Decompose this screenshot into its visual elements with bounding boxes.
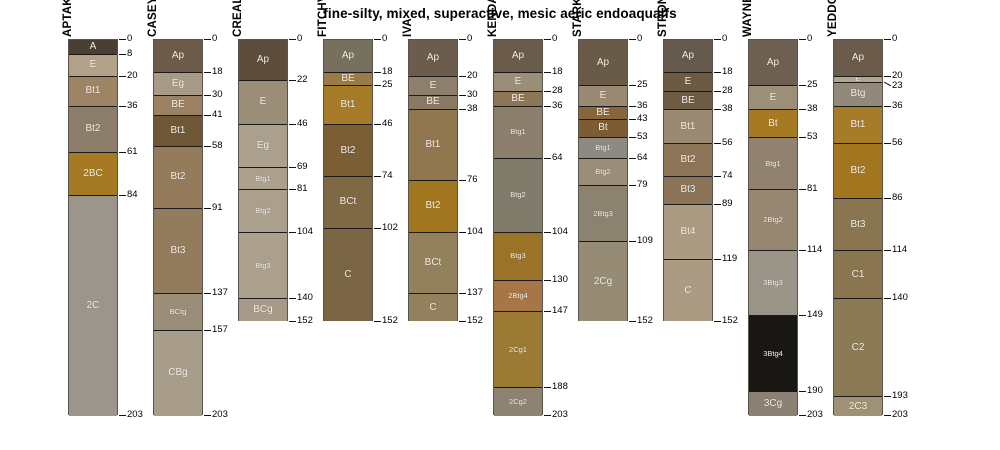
horizon-label: Bt2 xyxy=(680,155,695,165)
axis-tick-label: 41 xyxy=(212,110,223,120)
horizon-label: Eg xyxy=(257,141,269,151)
axis-tick-label: 28 xyxy=(722,86,733,96)
horizon-bctg[interactable]: BCtg xyxy=(154,294,202,331)
horizon-label: Bt1 xyxy=(85,86,100,96)
horizon-eg[interactable]: Eg xyxy=(154,73,202,95)
axis-tick-label: 152 xyxy=(382,316,398,326)
profile-name-label: YEDDO xyxy=(827,0,839,37)
horizon-cbg[interactable]: CBg xyxy=(154,331,202,416)
axis-tick xyxy=(799,137,806,138)
horizon-label: 2Cg xyxy=(594,277,612,287)
horizon-2cg1[interactable]: 2Cg1 xyxy=(494,312,542,388)
axis-tick xyxy=(544,415,551,416)
axis-tick xyxy=(714,176,721,177)
profile-column: ApEBEBtg1Btg2Btg32Btg42Cg12Cg2 xyxy=(493,39,543,415)
horizon-2bc[interactable]: 2BC xyxy=(69,153,117,196)
axis-tick-label: 43 xyxy=(637,114,648,124)
axis-tick-label: 18 xyxy=(552,67,563,77)
horizon-label: Bt2 xyxy=(850,166,865,176)
axis-tick xyxy=(544,232,551,233)
profile-name-label: STRONGHURST xyxy=(657,0,669,37)
horizon-bt2[interactable]: Bt2 xyxy=(324,125,372,177)
axis-tick xyxy=(799,189,806,190)
profile-column: ApEBEBt1Bt2Bt3Bt4C xyxy=(663,39,713,321)
horizon-label: C xyxy=(344,270,351,280)
axis-tick-label: 18 xyxy=(722,67,733,77)
axis-tick xyxy=(289,39,296,40)
horizon-label: Ap xyxy=(852,53,864,63)
axis-tick-label: 74 xyxy=(382,171,393,181)
horizon-bt1[interactable]: Bt1 xyxy=(664,110,712,143)
profile-column: ApEgBEBt1Bt2Bt3BCtgCBg xyxy=(153,39,203,415)
horizon-c2[interactable]: C2 xyxy=(834,299,882,397)
horizon-label: BCt xyxy=(340,197,357,207)
horizon-label: Bt3 xyxy=(680,185,695,195)
horizon-btg1[interactable]: Btg1 xyxy=(749,138,797,190)
horizon-label: BE xyxy=(341,74,354,84)
horizon-2c3[interactable]: 2C3 xyxy=(834,397,882,416)
horizon-ap[interactable]: Ap xyxy=(239,40,287,81)
axis-tick xyxy=(714,204,721,205)
axis-tick-label: 0 xyxy=(807,34,812,44)
horizon-label: C2 xyxy=(852,343,865,353)
profile-column: ApEBtgBt1Bt2Bt3C1C22C3 xyxy=(833,39,883,415)
horizon-e[interactable]: E xyxy=(579,86,627,106)
profile-name-label: WAYNETOWN xyxy=(742,0,754,37)
axis-tick xyxy=(629,85,636,86)
horizon-e[interactable]: E xyxy=(69,55,117,77)
horizon-label: E xyxy=(260,97,267,107)
axis-tick xyxy=(374,124,381,125)
horizon-label: E xyxy=(430,81,437,91)
horizon-label: BE xyxy=(681,96,694,106)
axis-tick xyxy=(204,146,211,147)
horizon-ap[interactable]: Ap xyxy=(324,40,372,73)
axis-tick xyxy=(204,115,211,116)
axis-tick-label: 0 xyxy=(127,34,132,44)
horizon-be[interactable]: BE xyxy=(579,107,627,120)
axis-tick-label: 69 xyxy=(297,162,308,172)
horizon-bt1[interactable]: Bt1 xyxy=(834,107,882,144)
horizon-label: 2Btg2 xyxy=(763,216,783,224)
horizon-3btg3[interactable]: 3Btg3 xyxy=(749,251,797,316)
axis-tick xyxy=(629,119,636,120)
profile-column: ApEEgBtg1Btg2Btg3BCg xyxy=(238,39,288,321)
axis-tick-label: 23 xyxy=(892,81,903,91)
horizon-label: 2Cg2 xyxy=(509,398,527,406)
axis-tick-label: 152 xyxy=(297,316,313,326)
axis-tick-label: 38 xyxy=(722,104,733,114)
horizon-bt2[interactable]: Bt2 xyxy=(664,144,712,177)
horizon-a[interactable]: A xyxy=(69,40,117,55)
axis-tick xyxy=(799,85,806,86)
soil-profile-figure: fine-silty, mixed, superactive, mesic ae… xyxy=(0,0,1000,450)
axis-tick-label: 0 xyxy=(892,34,897,44)
axis-tick xyxy=(374,85,381,86)
horizon-label: Ap xyxy=(427,53,439,63)
axis-tick xyxy=(544,311,551,312)
horizon-bt2[interactable]: Bt2 xyxy=(69,107,117,153)
axis-tick-label: 18 xyxy=(382,67,393,77)
axis-tick xyxy=(204,95,211,96)
horizon-label: Btg xyxy=(850,89,865,99)
axis-tick-label: 64 xyxy=(552,153,563,163)
axis-tick-label: 130 xyxy=(552,275,568,285)
horizon-ap[interactable]: Ap xyxy=(409,40,457,77)
axis-tick-label: 36 xyxy=(552,101,563,111)
axis-tick xyxy=(374,321,381,322)
axis-tick-label: 74 xyxy=(722,171,733,181)
horizon-label: E xyxy=(600,91,607,101)
horizon-e[interactable]: E xyxy=(409,77,457,96)
axis-tick xyxy=(459,321,466,322)
horizon-be[interactable]: BE xyxy=(409,96,457,111)
axis-tick-label: 203 xyxy=(212,410,228,420)
profile-column: ApEBtBtg12Btg23Btg33Btg43Cg xyxy=(748,39,798,415)
axis-tick xyxy=(884,39,891,40)
axis-tick xyxy=(459,232,466,233)
axis-tick-label: 114 xyxy=(807,245,822,255)
axis-tick xyxy=(289,321,296,322)
axis-tick xyxy=(374,72,381,73)
axis-tick xyxy=(884,298,891,299)
axis-tick xyxy=(459,293,466,294)
axis-tick xyxy=(714,39,721,40)
horizon-label: Btg1 xyxy=(765,160,780,168)
horizon-btg1[interactable]: Btg1 xyxy=(579,138,627,158)
axis-tick-label: 104 xyxy=(552,227,568,237)
horizon-bt[interactable]: Bt xyxy=(749,110,797,138)
axis-tick-label: 30 xyxy=(467,90,478,100)
horizon-label: Ap xyxy=(512,51,524,61)
axis-tick-label: 91 xyxy=(212,203,223,213)
horizon-btg1[interactable]: Btg1 xyxy=(239,168,287,190)
axis-tick xyxy=(714,72,721,73)
axis-tick xyxy=(629,158,636,159)
axis-tick xyxy=(629,39,636,40)
horizon-label: 2BC xyxy=(83,169,102,179)
horizon-label: 3Btg3 xyxy=(763,279,783,287)
axis-tick xyxy=(119,195,126,196)
horizon-label: Bt2 xyxy=(340,146,355,156)
horizon-bcg[interactable]: BCg xyxy=(239,299,287,321)
axis-tick xyxy=(204,208,211,209)
horizon-label: Bt3 xyxy=(170,246,185,256)
horizon-label: Bt2 xyxy=(425,201,440,211)
horizon-ap[interactable]: Ap xyxy=(154,40,202,73)
axis-tick xyxy=(884,198,891,199)
axis-tick xyxy=(714,259,721,260)
axis-tick-label: 157 xyxy=(212,325,228,335)
horizon-label: BE xyxy=(511,94,524,104)
horizon-label: Bt xyxy=(768,119,777,129)
axis-tick xyxy=(374,176,381,177)
horizon-label: Bt1 xyxy=(680,122,695,132)
horizon-btg2[interactable]: Btg2 xyxy=(579,159,627,187)
axis-tick xyxy=(119,54,126,55)
horizon-bt[interactable]: Bt xyxy=(579,120,627,139)
axis-tick xyxy=(289,189,296,190)
profile-column: AEBt1Bt22BC2C xyxy=(68,39,118,415)
axis-tick-label: 114 xyxy=(892,245,907,255)
axis-tick-label: 20 xyxy=(127,71,138,81)
axis-tick xyxy=(884,396,891,397)
horizon-e[interactable]: E xyxy=(749,86,797,110)
horizon-3btg4[interactable]: 3Btg4 xyxy=(749,316,797,392)
horizon-c[interactable]: C xyxy=(324,229,372,322)
axis-tick-label: 61 xyxy=(127,147,138,157)
axis-tick xyxy=(544,158,551,159)
axis-tick-label: 56 xyxy=(722,138,733,148)
horizon-bt1[interactable]: Bt1 xyxy=(69,77,117,107)
axis-tick-label: 86 xyxy=(892,193,903,203)
horizon-e[interactable]: E xyxy=(494,73,542,92)
axis-tick xyxy=(884,76,891,77)
axis-tick xyxy=(374,39,381,40)
axis-tick-label: 119 xyxy=(722,254,737,264)
axis-tick-label: 28 xyxy=(552,86,563,96)
axis-tick xyxy=(799,315,806,316)
axis-tick xyxy=(799,109,806,110)
axis-tick-label: 81 xyxy=(807,184,818,194)
axis-tick-label: 152 xyxy=(637,316,653,326)
horizon-label: 2Cg1 xyxy=(509,346,527,354)
axis-tick-label: 0 xyxy=(552,34,557,44)
axis-tick xyxy=(289,298,296,299)
horizon-label: Btg1 xyxy=(510,128,525,136)
horizon-label: C xyxy=(429,303,436,313)
horizon-bt3[interactable]: Bt3 xyxy=(154,209,202,294)
horizon-e[interactable]: E xyxy=(664,73,712,92)
axis-tick-label: 81 xyxy=(297,184,308,194)
horizon-2btg3[interactable]: 2Btg3 xyxy=(579,186,627,242)
horizon-label: BCt xyxy=(425,258,442,268)
horizon-2cg[interactable]: 2Cg xyxy=(579,242,627,322)
axis-tick-label: 25 xyxy=(807,80,818,90)
axis-tick xyxy=(629,185,636,186)
horizon-bt2[interactable]: Bt2 xyxy=(834,144,882,200)
horizon-btg3[interactable]: Btg3 xyxy=(494,233,542,281)
horizon-label: Bt xyxy=(598,123,607,133)
horizon-label: BE xyxy=(171,100,184,110)
axis-tick-label: 104 xyxy=(467,227,483,237)
axis-tick xyxy=(544,106,551,107)
axis-tick-label: 102 xyxy=(382,223,398,233)
axis-tick xyxy=(459,39,466,40)
horizon-btg3[interactable]: Btg3 xyxy=(239,233,287,300)
horizon-label: E xyxy=(685,77,692,87)
horizon-label: Eg xyxy=(172,79,184,89)
horizon-c[interactable]: C xyxy=(664,260,712,321)
horizon-label: BCg xyxy=(253,305,272,315)
axis-tick xyxy=(459,180,466,181)
horizon-bt4[interactable]: Bt4 xyxy=(664,205,712,261)
horizon-label: Btg2 xyxy=(510,191,525,199)
axis-tick-label: 53 xyxy=(807,132,818,142)
profile-name-label: CREAL xyxy=(232,0,244,37)
horizon-bct[interactable]: BCt xyxy=(409,233,457,294)
horizon-label: 2Btg3 xyxy=(593,210,613,218)
horizon-label: Ap xyxy=(767,58,779,68)
horizon-label: E xyxy=(515,77,522,87)
horizon-label: Btg3 xyxy=(510,252,525,260)
axis-tick-label: 203 xyxy=(552,410,568,420)
horizon-ap[interactable]: Ap xyxy=(579,40,627,86)
axis-tick-label: 20 xyxy=(467,71,478,81)
horizon-label: BE xyxy=(426,97,439,107)
profile-name-label: CASEYVILLE xyxy=(147,0,159,37)
horizon-label: E xyxy=(770,93,777,103)
horizon-eg[interactable]: Eg xyxy=(239,125,287,168)
horizon-bt2[interactable]: Bt2 xyxy=(154,147,202,208)
axis-tick xyxy=(204,39,211,40)
horizon-be[interactable]: BE xyxy=(494,92,542,107)
axis-tick-label: 22 xyxy=(297,75,308,85)
horizon-label: Ap xyxy=(342,51,354,61)
axis-tick-label: 109 xyxy=(637,236,653,246)
horizon-label: C xyxy=(684,286,691,296)
axis-tick xyxy=(289,232,296,233)
horizon-c1[interactable]: C1 xyxy=(834,251,882,299)
horizon-bct[interactable]: BCt xyxy=(324,177,372,229)
horizon-bt1[interactable]: Bt1 xyxy=(409,110,457,180)
axis-tick xyxy=(714,143,721,144)
axis-tick-label: 190 xyxy=(807,386,823,396)
horizon-2btg4[interactable]: 2Btg4 xyxy=(494,281,542,312)
horizon-label: C1 xyxy=(852,270,865,280)
axis-tick-label: 137 xyxy=(212,288,228,298)
horizon-3cg[interactable]: 3Cg xyxy=(749,392,797,416)
horizon-btg[interactable]: Btg xyxy=(834,83,882,107)
axis-tick xyxy=(119,415,126,416)
horizon-label: Bt1 xyxy=(425,140,440,150)
axis-tick-label: 36 xyxy=(127,101,138,111)
horizon-bt3[interactable]: Bt3 xyxy=(664,177,712,205)
axis-tick-label: 8 xyxy=(127,49,132,59)
axis-tick xyxy=(884,106,891,107)
axis-tick-label: 188 xyxy=(552,382,568,392)
axis-tick-label: 193 xyxy=(892,391,908,401)
horizon-label: Bt4 xyxy=(680,227,695,237)
axis-tick-label: 0 xyxy=(382,34,387,44)
horizon-ap[interactable]: Ap xyxy=(749,40,797,86)
horizon-btg2[interactable]: Btg2 xyxy=(239,190,287,233)
axis-tick-label: 203 xyxy=(807,410,823,420)
axis-tick-label: 0 xyxy=(722,34,727,44)
axis-tick xyxy=(119,76,126,77)
horizon-c[interactable]: C xyxy=(409,294,457,322)
axis-tick-label: 53 xyxy=(637,132,648,142)
profile-column: ApEBEBtBtg1Btg22Btg32Cg xyxy=(578,39,628,321)
axis-tick-label: 25 xyxy=(382,80,393,90)
horizon-label: Ap xyxy=(682,51,694,61)
axis-tick-label: 84 xyxy=(127,190,138,200)
axis-tick xyxy=(714,91,721,92)
horizon-bt1[interactable]: Bt1 xyxy=(324,86,372,125)
axis-tick xyxy=(799,391,806,392)
axis-tick-label: 0 xyxy=(297,34,302,44)
horizon-be[interactable]: BE xyxy=(154,96,202,116)
horizon-label: 3Btg4 xyxy=(763,350,783,358)
horizon-ap[interactable]: Ap xyxy=(834,40,882,77)
horizon-e[interactable]: E xyxy=(239,81,287,125)
profile-name-label: FITCHVILLE xyxy=(317,0,329,37)
horizon-bt1[interactable]: Bt1 xyxy=(154,116,202,147)
axis-tick-label: 64 xyxy=(637,153,648,163)
axis-tick-label: 137 xyxy=(467,288,483,298)
axis-tick xyxy=(884,250,891,251)
axis-tick xyxy=(629,241,636,242)
horizon-label: Bt2 xyxy=(85,124,100,134)
axis-tick xyxy=(714,109,721,110)
axis-tick xyxy=(799,250,806,251)
axis-tick xyxy=(629,106,636,107)
horizon-label: Bt1 xyxy=(170,126,185,136)
horizon-btg2[interactable]: Btg2 xyxy=(494,159,542,233)
axis-tick xyxy=(544,39,551,40)
profile-name-label: STARKS xyxy=(572,0,584,37)
axis-tick xyxy=(884,415,891,416)
profile-name-label: KENDALL xyxy=(487,0,499,37)
horizon-2cg2[interactable]: 2Cg2 xyxy=(494,388,542,416)
axis-tick-label: 56 xyxy=(892,138,903,148)
horizon-btg1[interactable]: Btg1 xyxy=(494,107,542,159)
horizon-label: CBg xyxy=(168,368,187,378)
axis-tick xyxy=(289,124,296,125)
horizon-label: BE xyxy=(596,108,609,118)
axis-tick-label: 149 xyxy=(807,310,823,320)
horizon-ap[interactable]: Ap xyxy=(494,40,542,73)
horizon-label: 2Btg4 xyxy=(508,292,528,300)
horizon-bt2[interactable]: Bt2 xyxy=(409,181,457,233)
horizon-label: Btg1 xyxy=(255,175,270,183)
horizon-label: 3Cg xyxy=(764,399,782,409)
axis-tick-label: 140 xyxy=(297,293,313,303)
horizon-ap[interactable]: Ap xyxy=(664,40,712,73)
horizon-label: E xyxy=(90,60,97,70)
axis-tick xyxy=(289,80,296,81)
horizon-label: Ap xyxy=(597,58,609,68)
axis-tick xyxy=(799,39,806,40)
horizon-label: Bt3 xyxy=(850,220,865,230)
horizon-label: 2C3 xyxy=(849,402,867,412)
axis-tick-label: 152 xyxy=(722,316,738,326)
horizon-label: 2C xyxy=(87,301,100,311)
axis-tick xyxy=(799,415,806,416)
horizon-label: Bt1 xyxy=(850,120,865,130)
horizon-be[interactable]: BE xyxy=(324,73,372,86)
axis-tick xyxy=(459,95,466,96)
axis-tick-label: 25 xyxy=(637,80,648,90)
axis-tick-label: 0 xyxy=(637,34,642,44)
horizon-2c[interactable]: 2C xyxy=(69,196,117,416)
axis-tick xyxy=(119,152,126,153)
axis-tick-label: 147 xyxy=(552,306,568,316)
depth-axis: 02023365686114140193203 xyxy=(884,0,944,450)
axis-tick xyxy=(459,76,466,77)
profile-column: ApBEBt1Bt2BCtC xyxy=(323,39,373,321)
horizon-label: Bt1 xyxy=(340,100,355,110)
axis-tick xyxy=(204,293,211,294)
axis-tick xyxy=(374,228,381,229)
axis-tick-label: 0 xyxy=(212,34,217,44)
horizon-2btg2[interactable]: 2Btg2 xyxy=(749,190,797,251)
horizon-label: Btg1 xyxy=(595,144,610,152)
horizon-bt3[interactable]: Bt3 xyxy=(834,199,882,251)
axis-tick-label: 38 xyxy=(807,104,818,114)
horizon-be[interactable]: BE xyxy=(664,92,712,111)
horizon-label: BCtg xyxy=(170,308,187,316)
